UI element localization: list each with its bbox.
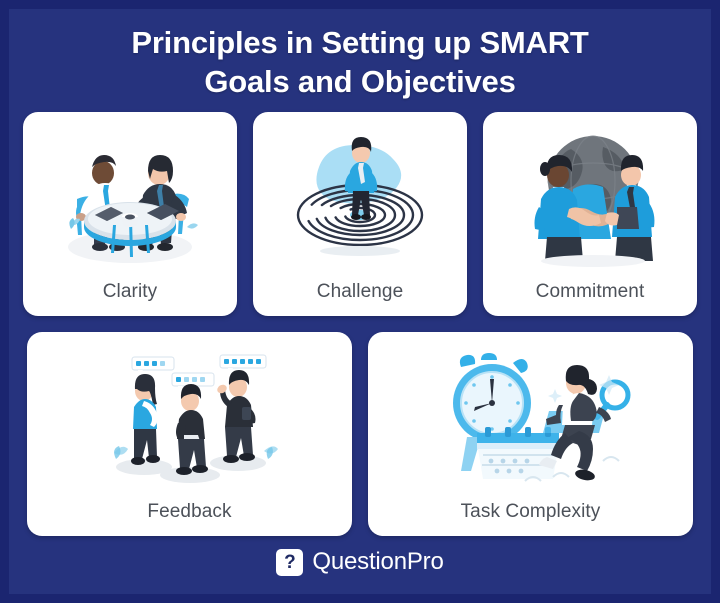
- poster: Principles in Setting up SMART Goals and…: [0, 0, 720, 603]
- principle-card-commitment[interactable]: Commitment: [483, 112, 697, 316]
- handshake-globe-icon: [511, 129, 669, 271]
- principle-label: Challenge: [317, 282, 403, 316]
- rating-people-icon: [72, 349, 308, 491]
- clock-calendar-runner-icon: [413, 349, 649, 491]
- questionpro-mark-icon: ?: [276, 549, 303, 576]
- title-line-1: Principles in Setting up SMART: [40, 23, 680, 62]
- task-complexity-illustration: [368, 338, 693, 502]
- brand-name: QuestionPro: [312, 548, 443, 576]
- principle-label: Task Complexity: [461, 502, 601, 536]
- brand-logo[interactable]: ? QuestionPro: [276, 548, 443, 576]
- principle-card-feedback[interactable]: Feedback: [27, 332, 352, 536]
- clarity-illustration: [23, 118, 237, 282]
- title-line-2: Goals and Objectives: [40, 62, 680, 101]
- maze-icon: [281, 129, 439, 271]
- principle-label: Clarity: [103, 282, 158, 316]
- principles-grid: Clarity: [22, 112, 698, 536]
- principle-card-challenge[interactable]: Challenge: [253, 112, 467, 316]
- principle-label: Commitment: [536, 282, 645, 316]
- principle-label: Feedback: [147, 502, 231, 536]
- page-title: Principles in Setting up SMART Goals and…: [40, 23, 680, 101]
- principles-row-bottom: Feedback: [27, 332, 693, 536]
- feedback-illustration: [27, 338, 352, 502]
- principle-card-clarity[interactable]: Clarity: [23, 112, 237, 316]
- principles-row-top: Clarity: [23, 112, 697, 316]
- meeting-table-icon: [51, 129, 209, 271]
- principle-card-task-complexity[interactable]: Task Complexity: [368, 332, 693, 536]
- commitment-illustration: [483, 118, 697, 282]
- challenge-illustration: [253, 118, 467, 282]
